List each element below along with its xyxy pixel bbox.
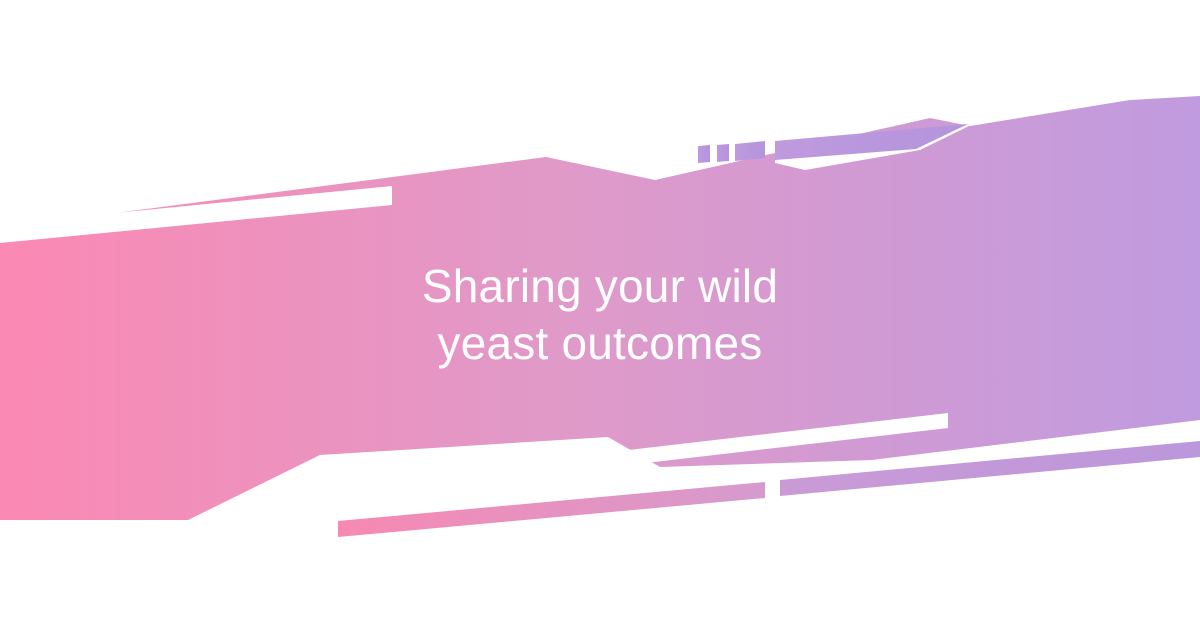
dash-3 [735, 141, 765, 161]
banner-background-graphic [0, 0, 1200, 630]
banner-card: Sharing your wild yeast outcomes [0, 0, 1200, 630]
bottom-bar-left-segment [338, 482, 765, 537]
dash-1 [698, 145, 710, 163]
dash-2 [717, 144, 729, 162]
